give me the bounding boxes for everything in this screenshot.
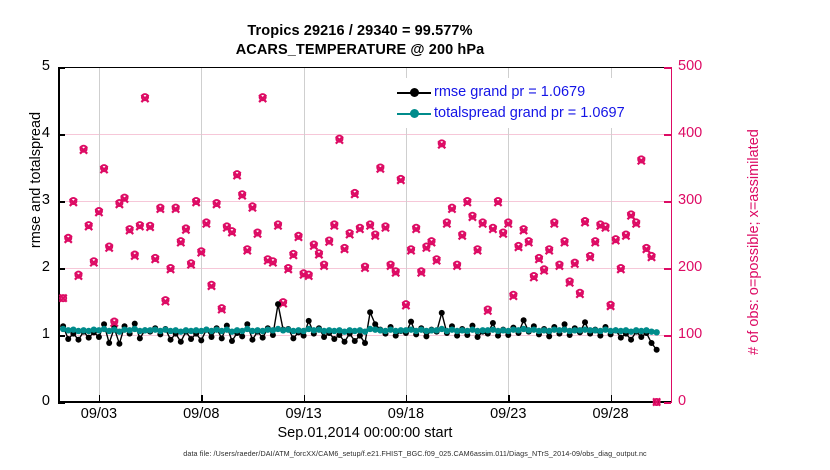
tick-bottom xyxy=(304,395,306,402)
tick-right xyxy=(664,134,671,136)
data-point xyxy=(116,341,122,347)
data-point xyxy=(86,335,92,341)
tick-left xyxy=(58,402,65,404)
data-point xyxy=(546,333,552,339)
data-point xyxy=(306,318,312,324)
x-tick-label: 09/28 xyxy=(592,406,628,422)
y-tick-label-right: 100 xyxy=(678,326,702,342)
tick-left xyxy=(58,134,65,136)
data-point xyxy=(106,340,112,346)
data-point xyxy=(562,321,568,327)
data-point xyxy=(628,337,634,343)
tick-bottom xyxy=(406,395,408,402)
y-tick-label-right: 500 xyxy=(678,58,702,74)
y-axis-label-left: rmse and totalspread xyxy=(28,50,44,310)
x-tick-label: 09/03 xyxy=(81,406,117,422)
title-line-2: ACARS_TEMPERATURE @ 200 hPa xyxy=(0,41,720,60)
data-line xyxy=(63,304,657,350)
tick-bottom xyxy=(201,395,203,402)
legend-marker-totalspread xyxy=(397,108,431,120)
data-point xyxy=(475,334,481,340)
legend-label-rmse: rmse grand pr = 1.0679 xyxy=(434,82,585,103)
data-point xyxy=(321,334,327,340)
x-tick-label: 09/13 xyxy=(285,406,321,422)
data-point xyxy=(168,337,174,343)
data-point xyxy=(290,335,296,341)
tick-bottom xyxy=(99,395,101,402)
data-point xyxy=(198,337,204,343)
data-point xyxy=(342,339,348,345)
data-point xyxy=(229,338,235,344)
legend-marker-rmse xyxy=(397,87,431,99)
data-point xyxy=(209,334,215,340)
tick-bottom xyxy=(508,395,510,402)
data-point xyxy=(423,333,429,339)
data-point xyxy=(239,333,245,339)
data-point xyxy=(75,337,81,343)
chart-title: Tropics 29216 / 29340 = 99.577% ACARS_TE… xyxy=(0,22,720,60)
data-point xyxy=(490,320,496,326)
tick-left xyxy=(58,268,65,270)
data-point xyxy=(653,329,659,335)
data-point xyxy=(372,321,378,327)
y-tick-label-right: 0 xyxy=(678,393,686,409)
x-axis-label: Sep.01,2014 00:00:00 start xyxy=(58,425,672,441)
data-point xyxy=(521,317,527,323)
y-tick-label-right: 300 xyxy=(678,192,702,208)
tick-right xyxy=(664,201,671,203)
tick-left xyxy=(58,67,65,69)
x-tick-label: 09/08 xyxy=(183,406,219,422)
y-tick-label-left: 0 xyxy=(4,393,50,409)
tick-right xyxy=(664,67,671,69)
data-point xyxy=(654,347,660,353)
tick-right xyxy=(664,268,671,270)
x-tick-label: 09/18 xyxy=(388,406,424,422)
tick-right xyxy=(664,402,671,404)
data-point xyxy=(137,335,143,341)
data-point xyxy=(618,335,624,341)
data-point xyxy=(408,319,414,325)
figure-root: Tropics 29216 / 29340 = 99.577% ACARS_TE… xyxy=(0,0,830,470)
legend[interactable]: rmse grand pr = 1.0679 totalspread grand… xyxy=(392,78,632,128)
x-tick-label: 09/23 xyxy=(490,406,526,422)
y-tick-label-left: 1 xyxy=(4,326,50,342)
tick-bottom xyxy=(611,395,613,402)
data-point xyxy=(275,301,281,307)
legend-item-totalspread[interactable]: totalspread grand pr = 1.0697 xyxy=(397,103,625,124)
legend-item-rmse[interactable]: rmse grand pr = 1.0679 xyxy=(397,82,625,103)
data-point xyxy=(357,333,363,339)
data-point xyxy=(331,336,337,342)
data-point xyxy=(65,336,71,342)
y-axis-label-right: # of obs: o=possible; x=assimilated xyxy=(746,92,762,392)
data-point xyxy=(439,310,445,316)
title-line-1: Tropics 29216 / 29340 = 99.577% xyxy=(0,22,720,41)
data-point xyxy=(638,334,644,340)
tick-left xyxy=(58,201,65,203)
data-point xyxy=(188,336,194,342)
data-point xyxy=(582,319,588,325)
data-point xyxy=(367,309,373,315)
data-point xyxy=(249,337,255,343)
data-point xyxy=(219,335,225,341)
data-point xyxy=(649,340,655,346)
tick-left xyxy=(58,335,65,337)
data-point xyxy=(132,321,138,327)
data-point xyxy=(260,335,266,341)
data-file-footer: data file: /Users/raeder/DAI/ATM_forcXX/… xyxy=(0,449,830,458)
data-point xyxy=(362,340,368,346)
data-point xyxy=(178,339,184,345)
y-tick-label-right: 200 xyxy=(678,259,702,275)
legend-label-totalspread: totalspread grand pr = 1.0697 xyxy=(434,103,625,124)
data-point xyxy=(96,334,102,340)
data-point xyxy=(352,338,358,344)
tick-right xyxy=(664,335,671,337)
y-tick-label-right: 400 xyxy=(678,125,702,141)
